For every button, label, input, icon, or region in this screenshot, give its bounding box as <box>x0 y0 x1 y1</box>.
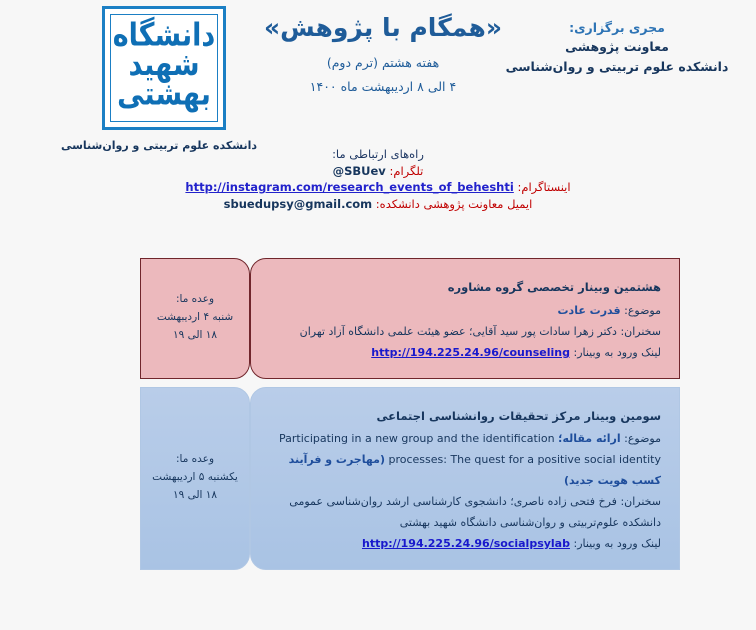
event-speaker-value-1: دکتر زهرا سادات پور سید آقایی؛ عضو هیئت … <box>300 325 617 338</box>
contact-row-instagram: اینستاگرام: http://instagram.com/researc… <box>0 179 756 196</box>
event-webinar-link-1[interactable]: http://194.225.24.96/counseling <box>371 343 570 364</box>
event-when-label-1: وعده ما: <box>176 291 214 309</box>
event-topic-row-1: موضوع: قدرت عادت <box>269 301 661 322</box>
event-when-day-2: یکشنبه ۵ اردیبهشت <box>152 469 238 487</box>
event-speaker-label-1: سخنران: <box>620 325 661 338</box>
email-address[interactable]: sbuedupsy@gmail.com <box>224 197 372 211</box>
event-topic-value-1: قدرت عادت <box>558 304 621 317</box>
logo-inner-frame: دانشگاه شهید بهشتی <box>110 14 218 122</box>
logo-script-line-3: بهشتی <box>111 81 217 110</box>
event-speaker-row-2: سخنران: فرخ فتحی زاده ناصری؛ دانشجوی کار… <box>269 492 661 534</box>
event-list: هشتمین وبینار تخصصی گروه مشاوره موضوع: ق… <box>0 258 756 578</box>
event-title-2: سومین وبینار مرکز تحقیقات روانشناسی اجتم… <box>269 406 661 428</box>
event-card-2: سومین وبینار مرکز تحقیقات روانشناسی اجتم… <box>0 387 756 570</box>
event-when-label-2: وعده ما: <box>176 451 214 469</box>
event-details-1: هشتمین وبینار تخصصی گروه مشاوره موضوع: ق… <box>250 258 680 379</box>
event-when-1: وعده ما: شنبه ۴ اردیبهشت ۱۸ الی ۱۹ <box>140 258 250 379</box>
page-title: «همگام با پژوهش» <box>248 14 518 43</box>
event-card-1: هشتمین وبینار تخصصی گروه مشاوره موضوع: ق… <box>0 258 756 379</box>
organizer-line-2: دانشکده علوم تربیتی و روان‌شناسی <box>492 57 742 76</box>
event-topic-label-1: موضوع: <box>624 304 661 317</box>
instagram-label: اینستاگرام: <box>517 180 570 194</box>
contact-row-telegram: تلگرام: @SBUev <box>0 163 756 180</box>
logo-calligraphy: دانشگاه شهید بهشتی <box>111 15 217 122</box>
event-details-2: سومین وبینار مرکز تحقیقات روانشناسی اجتم… <box>250 387 680 570</box>
event-link-row-1: لینک ورود به وبینار: http://194.225.24.9… <box>269 343 661 364</box>
telegram-label: تلگرام: <box>389 164 423 178</box>
organizer-block: مجری برگزاری: معاونت پژوهشی دانشکده علوم… <box>492 18 742 76</box>
event-topic-label-2: موضوع: <box>624 432 661 445</box>
contact-heading: راه‌های ارتباطی ما: <box>0 146 756 163</box>
contact-block: راه‌های ارتباطی ما: تلگرام: @SBUev اینست… <box>0 146 756 213</box>
event-title-1: هشتمین وبینار تخصصی گروه مشاوره <box>269 277 661 299</box>
email-label: ایمیل معاونت پژوهشی دانشکده: <box>376 197 533 211</box>
event-when-day-1: شنبه ۴ اردیبهشت <box>157 309 233 327</box>
event-speaker-row-1: سخنران: دکتر زهرا سادات پور سید آقایی؛ ع… <box>269 322 661 343</box>
event-speaker-value-2: فرخ فتحی زاده ناصری؛ دانشجوی کارشناسی ار… <box>289 495 661 529</box>
event-link-label-2: لینک ورود به وبینار: <box>573 537 661 550</box>
instagram-link[interactable]: http://instagram.com/research_events_of_… <box>185 179 513 196</box>
event-topic-row-2: موضوع: ارائه مقاله؛ Participating in a n… <box>269 429 661 492</box>
date-range: ۴ الی ۸ اردیبهشت ماه ۱۴۰۰ <box>248 79 518 94</box>
event-topic-value-2: ارائه مقاله؛ <box>558 432 621 445</box>
contact-row-email: ایمیل معاونت پژوهشی دانشکده: sbuedupsy@g… <box>0 196 756 213</box>
organizer-line-1: معاونت پژوهشی <box>492 37 742 56</box>
telegram-handle[interactable]: @SBUev <box>333 164 386 178</box>
event-link-label-1: لینک ورود به وبینار: <box>573 346 661 359</box>
organizer-label: مجری برگزاری: <box>492 18 742 37</box>
title-block: «همگام با پژوهش» هفته هشتم (ترم دوم) ۴ ا… <box>248 14 518 94</box>
event-when-time-1: ۱۸ الی ۱۹ <box>173 327 217 345</box>
event-link-row-2: لینک ورود به وبینار: http://194.225.24.9… <box>269 534 661 555</box>
shahid-beheshti-university-logo-icon: دانشگاه شهید بهشتی <box>102 6 226 130</box>
event-webinar-link-2[interactable]: http://194.225.24.96/socialpsylab <box>362 534 570 555</box>
event-speaker-label-2: سخنران: <box>620 495 661 508</box>
page-subtitle: هفته هشتم (ترم دوم) <box>248 55 518 70</box>
event-when-2: وعده ما: یکشنبه ۵ اردیبهشت ۱۸ الی ۱۹ <box>140 387 250 570</box>
poster-header: دانشگاه شهید بهشتی دانشکده علوم تربیتی و… <box>0 0 756 140</box>
event-when-time-2: ۱۸ الی ۱۹ <box>173 487 217 505</box>
